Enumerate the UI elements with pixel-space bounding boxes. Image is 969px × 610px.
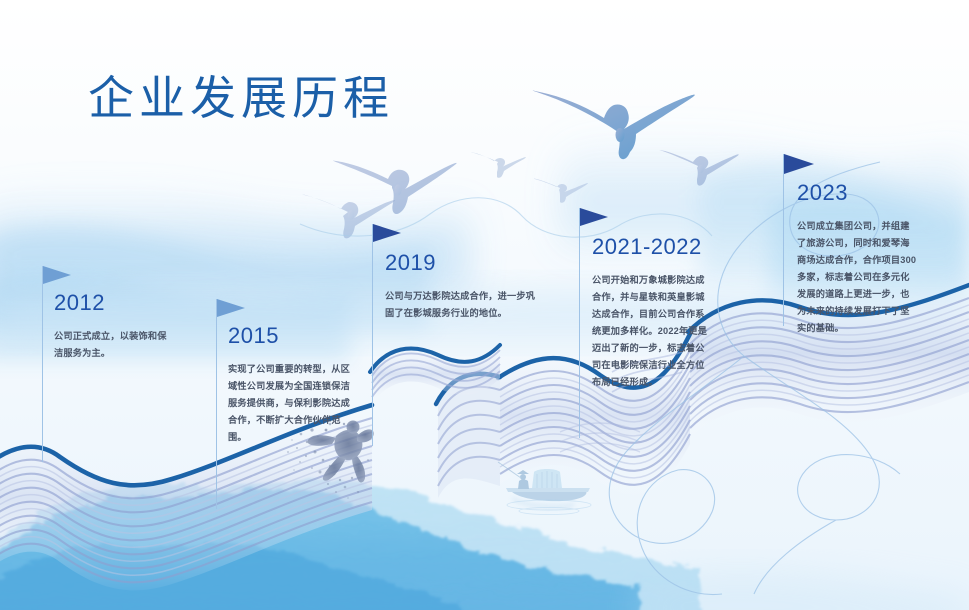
milestone-text: 实现了公司重要的转型，从区域性公司发展为全国连锁保洁服务提供商，与保利影院达成合… — [228, 361, 358, 446]
milestone-text: 公司成立集团公司，并组建了旅游公司，同时和爱琴海商场达成合作，合作项目300多家… — [797, 218, 919, 337]
flagpole-2015 — [216, 299, 217, 509]
milestone-2015[interactable]: 2015 实现了公司重要的转型，从区域性公司发展为全国连锁保洁服务提供商，与保利… — [228, 325, 364, 446]
milestone-text: 公司开始和万象城影院达成合作，并与星轶和英皇影城达成合作，目前公司合作系统更加多… — [592, 272, 714, 391]
flagpole-2012 — [42, 266, 43, 462]
milestone-2012[interactable]: 2012 公司正式成立，以装饰和保洁服务为主。 — [54, 292, 182, 362]
milestone-2019[interactable]: 2019 公司与万达影院达成合作，进一步巩固了在影城服务行业的地位。 — [385, 252, 541, 322]
poster-canvas: 企业发展历程 2012 公司正式成立，以装饰和保洁服务为主。 2015 实现了公… — [0, 0, 969, 610]
flagpole-2021-2022 — [579, 208, 580, 438]
milestone-text: 公司正式成立，以装饰和保洁服务为主。 — [54, 328, 176, 362]
flag-icon-2023 — [784, 154, 816, 176]
flagpole-2023 — [783, 154, 784, 326]
milestone-year: 2023 — [797, 182, 925, 204]
flag-icon-2012 — [43, 266, 73, 286]
milestone-year: 2021-2022 — [592, 236, 720, 258]
milestone-text: 公司与万达影院达成合作，进一步巩固了在影城服务行业的地位。 — [385, 288, 537, 322]
milestone-year: 2019 — [385, 252, 541, 274]
flag-icon-2021-2022 — [580, 208, 610, 228]
milestone-2021-2022[interactable]: 2021-2022 公司开始和万象城影院达成合作，并与星轶和英皇影城达成合作，目… — [592, 236, 720, 391]
flag-icon-2015 — [217, 299, 247, 319]
milestone-year: 2015 — [228, 325, 364, 347]
flag-icon-2019 — [373, 224, 403, 244]
flagpole-2019 — [372, 224, 373, 446]
milestone-year: 2012 — [54, 292, 182, 314]
milestone-2023[interactable]: 2023 公司成立集团公司，并组建了旅游公司，同时和爱琴海商场达成合作，合作项目… — [797, 182, 925, 337]
page-title: 企业发展历程 — [88, 62, 394, 128]
